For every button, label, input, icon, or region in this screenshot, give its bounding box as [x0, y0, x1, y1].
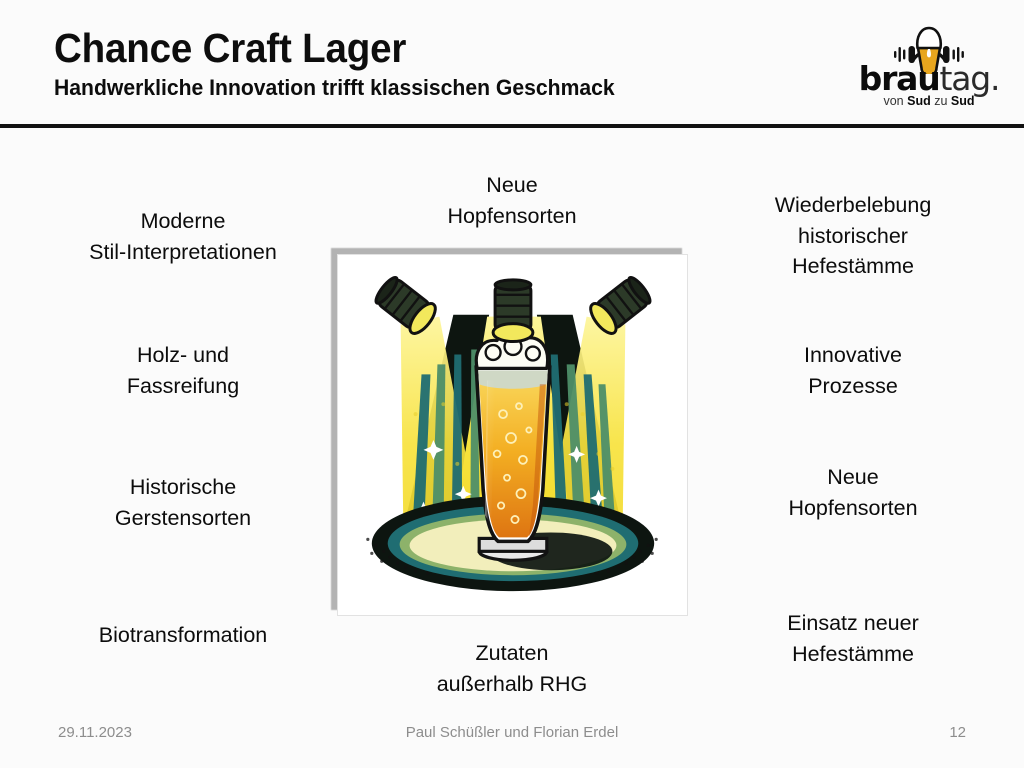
- slide: Chance Craft Lager Handwerkliche Innovat…: [0, 0, 1024, 768]
- label-wiederbelebung-historischer-hefestaemme: Wiederbelebung historischer Hefestämme: [718, 190, 988, 282]
- logo-wordmark-bold: brau: [859, 59, 940, 98]
- page-subtitle: Handwerkliche Innovation trifft klassisc…: [54, 76, 768, 101]
- label-holz-und-fassreifung: Holz- und Fassreifung: [48, 340, 318, 401]
- slide-footer: 29.11.2023 Paul Schüßler und Florian Erd…: [0, 718, 1024, 752]
- label-neue-hopfensorten-right: Neue Hopfensorten: [718, 462, 988, 523]
- label-innovative-prozesse: Innovative Prozesse: [718, 340, 988, 401]
- header-divider: [0, 124, 1024, 128]
- label-einsatz-neuer-hefestaemme: Einsatz neuer Hefestämme: [718, 608, 988, 669]
- label-neue-hopfensorten-top: Neue Hopfensorten: [362, 170, 662, 231]
- footer-page-number: 12: [949, 724, 966, 741]
- logo-wordmark: brautag.: [854, 62, 1004, 95]
- footer-authors: Paul Schüßler und Florian Erdel: [0, 724, 1024, 741]
- slide-header: Chance Craft Lager Handwerkliche Innovat…: [0, 0, 1024, 128]
- logo-wordmark-light: tag.: [940, 59, 1000, 98]
- page-title: Chance Craft Lager: [54, 26, 768, 70]
- logo-tagline: von Sud zu Sud: [854, 94, 1004, 108]
- logo-tagline-pre: von: [883, 94, 907, 108]
- label-historische-gerstensorten: Historische Gerstensorten: [48, 472, 318, 533]
- logo-tagline-mid: zu: [931, 94, 951, 108]
- brautag-logo: brautag. von Sud zu Sud: [854, 18, 1004, 118]
- logo-tagline-bold-2: Sud: [951, 94, 975, 108]
- label-zutaten-ausserhalb-rhg: Zutaten außerhalb RHG: [362, 638, 662, 699]
- label-biotransformation: Biotransformation: [48, 620, 318, 651]
- beer-spotlight-illustration: [337, 254, 688, 616]
- logo-tagline-bold-1: Sud: [907, 94, 931, 108]
- title-block: Chance Craft Lager Handwerkliche Innovat…: [54, 26, 814, 101]
- label-moderne-stil-interpretationen: Moderne Stil-Interpretationen: [48, 206, 318, 267]
